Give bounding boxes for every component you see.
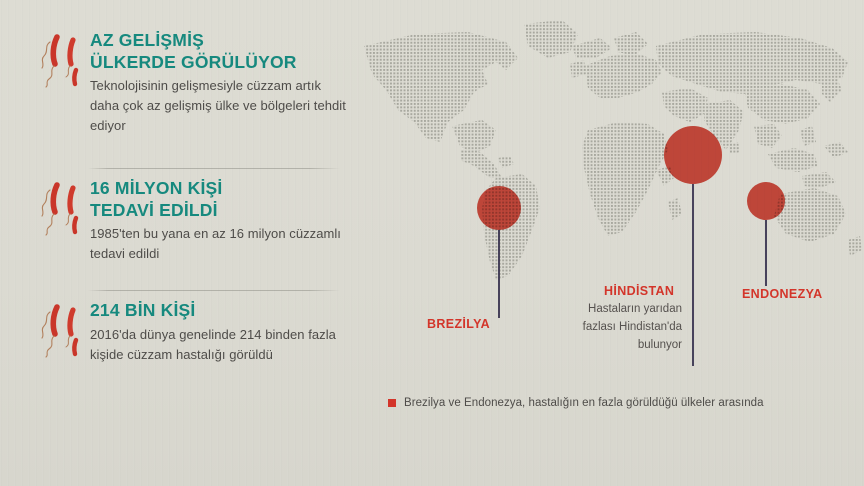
stat-title-2: 16 MİLYON KİŞİ TEDAVİ EDİLDİ xyxy=(90,178,350,221)
marker-line-endonezya xyxy=(765,220,767,286)
legend-text: Brezilya ve Endonezya, hastalığın en faz… xyxy=(404,397,764,409)
stat-block-1: AZ GELİŞMİŞ ÜLKERDE GÖRÜLÜYOR Teknolojis… xyxy=(40,30,350,136)
stat-block-3: 214 BİN KİŞİ 2016'da dünya genelinde 214… xyxy=(40,300,350,365)
marker-label-brezilya: BREZİLYA xyxy=(427,317,490,331)
marker-desc-line-1: Hastaların yarıdan xyxy=(560,300,682,318)
stat-text-2: 1985'ten bu yana en az 16 milyon cüzzaml… xyxy=(90,224,350,264)
stat-title-1-line-2: ÜLKERDE GÖRÜLÜYOR xyxy=(90,52,350,74)
stat-title-1-line-1: AZ GELİŞMİŞ xyxy=(90,30,350,52)
stat-title-2-line-1: 16 MİLYON KİŞİ xyxy=(90,178,350,200)
red-square-marker-icon xyxy=(388,399,396,407)
stat-title-3: 214 BİN KİŞİ xyxy=(90,300,350,322)
stat-block-2: 16 MİLYON KİŞİ TEDAVİ EDİLDİ 1985'ten bu… xyxy=(40,178,350,264)
marker-circle-hindistan[interactable] xyxy=(664,126,722,184)
marker-desc-line-3: bulunyor xyxy=(560,336,682,354)
world-map-dots xyxy=(356,18,864,284)
stat-text-1: Teknolojisinin gelişmesiyle cüzzam artık… xyxy=(90,76,350,136)
legend: Brezilya ve Endonezya, hastalığın en faz… xyxy=(388,397,764,409)
marker-line-brezilya xyxy=(498,230,500,318)
bacteria-icon xyxy=(40,300,84,358)
marker-desc-hindistan: Hastaların yarıdan fazlası Hindistan'da … xyxy=(560,300,682,354)
infographic-canvas: BREZİLYA HİNDİSTAN Hastaların yarıdan fa… xyxy=(0,0,864,486)
stat-body-3: 214 BİN KİŞİ 2016'da dünya genelinde 214… xyxy=(90,300,350,365)
marker-label-endonezya: ENDONEZYA xyxy=(742,287,822,301)
marker-line-hindistan xyxy=(692,184,694,366)
marker-desc-line-2: fazlası Hindistan'da xyxy=(560,318,682,336)
stat-title-1: AZ GELİŞMİŞ ÜLKERDE GÖRÜLÜYOR xyxy=(90,30,350,73)
marker-circle-endonezya[interactable] xyxy=(747,182,785,220)
stat-text-3: 2016'da dünya genelinde 214 binden fazla… xyxy=(90,325,350,365)
bacteria-icon xyxy=(40,178,84,236)
marker-label-hindistan: HİNDİSTAN xyxy=(604,284,674,298)
stat-title-3-line-1: 214 BİN KİŞİ xyxy=(90,300,350,322)
bacteria-icon xyxy=(40,30,84,88)
stat-body-1: AZ GELİŞMİŞ ÜLKERDE GÖRÜLÜYOR Teknolojis… xyxy=(90,30,350,136)
stat-title-2-line-2: TEDAVİ EDİLDİ xyxy=(90,200,350,222)
stat-divider-1 xyxy=(88,168,340,169)
stat-body-2: 16 MİLYON KİŞİ TEDAVİ EDİLDİ 1985'ten bu… xyxy=(90,178,350,264)
marker-circle-brezilya[interactable] xyxy=(477,186,521,230)
stat-divider-2 xyxy=(88,290,340,291)
world-map xyxy=(356,18,864,284)
